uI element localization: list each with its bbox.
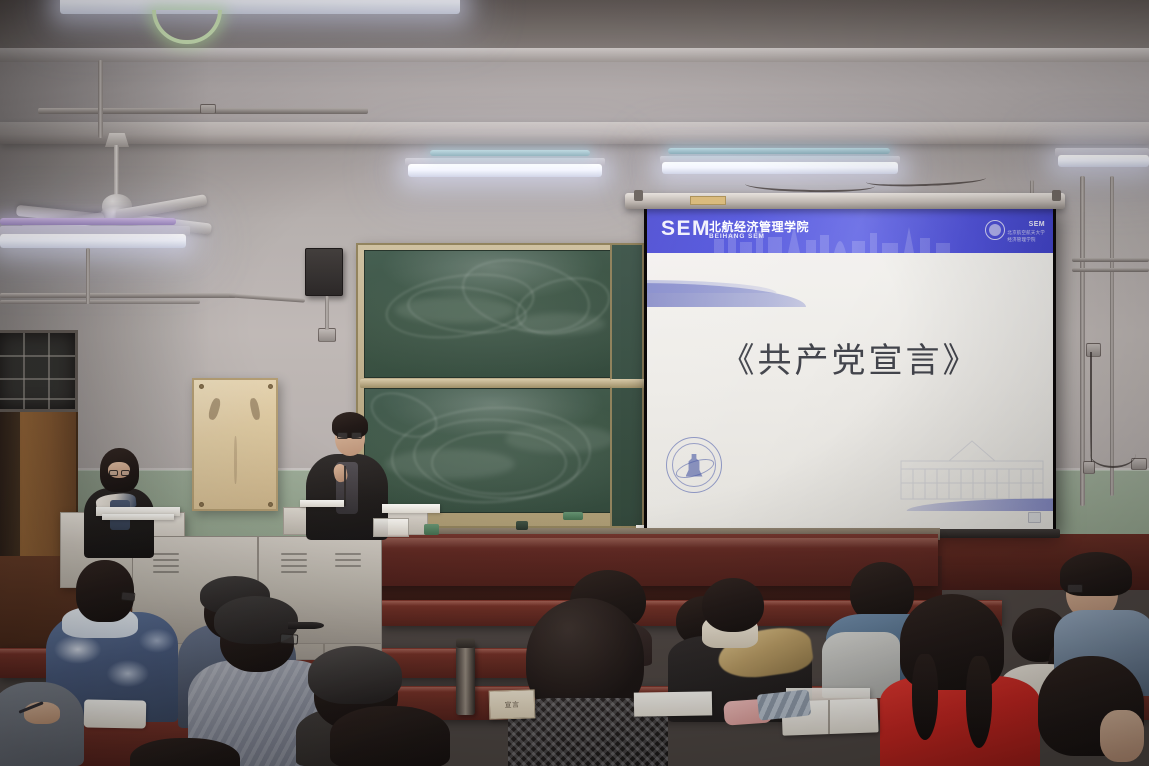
fluorescent-light bbox=[430, 150, 590, 156]
student-torso bbox=[0, 682, 84, 766]
fluorescent-light bbox=[408, 164, 602, 177]
power-outlet[interactable] bbox=[1083, 461, 1095, 474]
paper-stack bbox=[300, 500, 344, 507]
fluorescent-light bbox=[0, 234, 186, 248]
fluorescent-light bbox=[60, 0, 460, 14]
student-glasses bbox=[121, 591, 136, 601]
student-glasses bbox=[280, 633, 299, 644]
assistant-glasses bbox=[109, 470, 118, 476]
board-screw bbox=[268, 502, 273, 507]
window-mullion bbox=[0, 378, 75, 380]
blackboard-eraser[interactable] bbox=[424, 524, 439, 535]
chalk-rail bbox=[610, 379, 646, 388]
emblem-ring bbox=[672, 443, 716, 487]
conduit-pipe bbox=[1072, 268, 1149, 272]
counter-highlight bbox=[344, 538, 938, 548]
fluorescent-light bbox=[668, 148, 890, 154]
student-neck bbox=[1100, 710, 1144, 762]
board-stain bbox=[234, 436, 237, 484]
beihang-emblem-icon bbox=[666, 437, 722, 493]
projection-screen: SEM 北航经济管理学院 BEIHANG SEM SEM 北京航空航天大学 经济… bbox=[644, 206, 1056, 532]
book-spine bbox=[828, 700, 830, 734]
paper-sheet bbox=[84, 699, 146, 728]
cabinet-vent bbox=[335, 565, 361, 567]
conduit-pipe bbox=[1072, 258, 1149, 262]
seal-inner bbox=[989, 224, 1001, 236]
student-head bbox=[130, 738, 240, 766]
conduit-pipe bbox=[0, 293, 236, 298]
slide-corner-sub: 北京航空航天大学 经济管理学院 bbox=[1007, 230, 1045, 244]
board-screw bbox=[199, 502, 204, 507]
slide-swoosh-graphic bbox=[647, 267, 857, 293]
cabinet-vent bbox=[335, 553, 361, 555]
board-screw bbox=[268, 384, 273, 389]
student-glasses bbox=[1067, 584, 1083, 593]
list-item bbox=[880, 594, 1040, 766]
assistant-at-left-lectern bbox=[82, 444, 160, 554]
conduit-pipe bbox=[98, 60, 103, 138]
projected-slide: SEM 北航经济管理学院 BEIHANG SEM SEM 北京航空航天大学 经济… bbox=[647, 209, 1053, 529]
cabinet-vent bbox=[281, 559, 307, 561]
green-chalkboard bbox=[356, 243, 641, 528]
slide-corner-icon bbox=[1028, 512, 1041, 523]
cabinet-vent bbox=[335, 559, 361, 561]
board-screw bbox=[199, 384, 204, 389]
cabinet-vent bbox=[281, 565, 307, 567]
paper-sheet bbox=[634, 691, 712, 716]
paper-stack bbox=[382, 504, 440, 513]
slide-brand-mark: SEM bbox=[661, 217, 711, 241]
student-hair-strand bbox=[912, 654, 938, 740]
cap-brim bbox=[288, 622, 324, 629]
presenter-glasses bbox=[351, 432, 362, 439]
fluorescent-light bbox=[662, 162, 898, 174]
junction-box bbox=[318, 328, 336, 342]
cabinet-vent bbox=[281, 553, 307, 555]
paper-stack bbox=[102, 514, 174, 520]
ceiling-fan bbox=[114, 145, 119, 197]
junction-box bbox=[200, 104, 216, 114]
thermos-cap[interactable] bbox=[456, 638, 475, 648]
slide-header-bar: SEM 北航经济管理学院 BEIHANG SEM SEM 北京航空航天大学 经济… bbox=[647, 209, 1053, 253]
conduit-pipe bbox=[1080, 176, 1085, 506]
conduit-pipe bbox=[0, 300, 200, 304]
student-hair-strand bbox=[966, 656, 992, 748]
blackboard-eraser[interactable] bbox=[516, 521, 528, 530]
presenter-lanyard bbox=[344, 466, 346, 506]
list-item bbox=[330, 706, 450, 766]
fluorescent-light bbox=[1058, 155, 1149, 167]
university-seal-icon bbox=[985, 220, 1005, 240]
chalk-box[interactable] bbox=[373, 518, 409, 537]
chalkboard-panel-upper bbox=[364, 250, 632, 378]
housing-label bbox=[690, 196, 726, 205]
conduit-pipe bbox=[86, 248, 90, 304]
power-outlet[interactable] bbox=[1086, 343, 1101, 357]
presenter-glasses bbox=[337, 432, 348, 439]
window-mullion bbox=[0, 355, 75, 357]
window-mullion bbox=[0, 398, 75, 400]
chalk-rail bbox=[360, 379, 637, 388]
small-book[interactable]: 宣言 bbox=[489, 689, 536, 719]
cable bbox=[1090, 440, 1136, 468]
wood-notice-board bbox=[192, 378, 278, 511]
list-item bbox=[508, 598, 668, 766]
slide-brand-name-en: BEIHANG SEM bbox=[709, 233, 765, 240]
student-beanie bbox=[308, 646, 402, 704]
list-item bbox=[1038, 656, 1149, 766]
list-item bbox=[130, 738, 240, 766]
student-head bbox=[702, 578, 764, 632]
slide-corner-mark: SEM bbox=[1029, 221, 1045, 228]
chalkboard-panel-lower bbox=[364, 388, 632, 513]
building-watermark-icon bbox=[897, 435, 1047, 501]
housing-clip bbox=[634, 190, 643, 201]
lecture-hall-photo: SEM 北航经济管理学院 BEIHANG SEM SEM 北京航空航天大学 经济… bbox=[0, 0, 1149, 766]
assistant-glasses bbox=[121, 470, 130, 476]
housing-clip bbox=[1052, 190, 1061, 201]
board-stain bbox=[249, 397, 261, 420]
student-head bbox=[330, 706, 450, 766]
fluorescent-light bbox=[0, 218, 176, 225]
conduit-pipe bbox=[325, 296, 329, 330]
wall-speaker bbox=[305, 248, 343, 296]
window-grid bbox=[0, 330, 78, 412]
small-book-label: 宣言 bbox=[490, 690, 535, 720]
folded-cloth bbox=[757, 689, 811, 720]
blackboard-eraser[interactable] bbox=[563, 512, 583, 520]
presenter-at-lectern bbox=[300, 406, 392, 536]
slide-title: 《共产党宣言》 bbox=[647, 333, 1053, 382]
board-stain bbox=[207, 397, 222, 421]
thermos-flask[interactable] bbox=[456, 641, 475, 715]
